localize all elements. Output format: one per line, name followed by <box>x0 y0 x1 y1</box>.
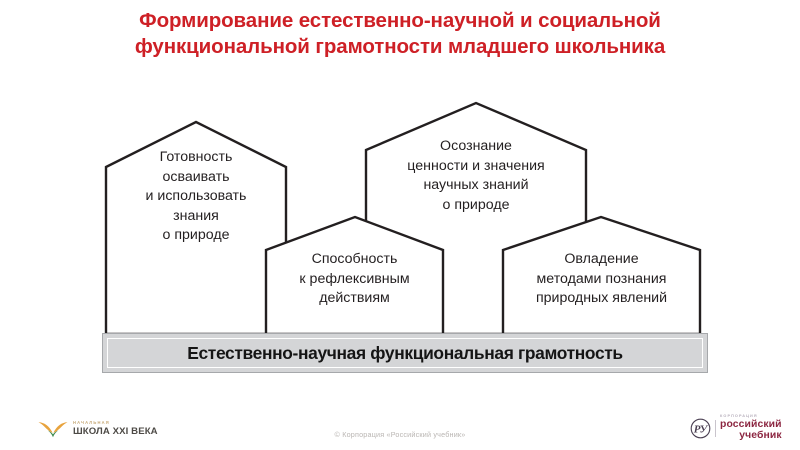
logo-nachalnaya-shkola: НАЧАЛЬНАЯ ШКОЛА XXI ВЕКА <box>38 417 158 441</box>
house-diagram: Готовность осваивать и использовать знан… <box>0 0 800 400</box>
logo-right-superscript: КОРПОРАЦИЯ <box>720 415 782 419</box>
foundation-bar: Естественно-научная функциональная грамо… <box>102 333 708 373</box>
house-label-reflexive-line-2: к рефлексивным <box>266 270 443 290</box>
logo-left-name: ШКОЛА XXI ВЕКА <box>73 427 158 437</box>
leaf-icon <box>38 421 68 438</box>
monogram-ru-icon: РУ <box>690 418 711 439</box>
house-label-readiness-line-1: Готовность <box>106 148 286 168</box>
logo-left-superscript: НАЧАЛЬНАЯ <box>73 421 158 425</box>
house-label-awareness-line-1: Осознание <box>366 137 586 157</box>
house-label-readiness-line-4: знания <box>106 207 286 227</box>
house-label-reflexive-line-1: Способность <box>266 250 443 270</box>
house-label-reflexive-line-3: действиям <box>266 289 443 309</box>
svg-text:РУ: РУ <box>694 423 709 435</box>
house-label-readiness-line-2: осваивать <box>106 168 286 188</box>
house-label-awareness-line-2: ценности и значения <box>366 157 586 177</box>
house-label-reflexive: Способность к рефлексивным действиям <box>266 250 443 309</box>
logo-rossiyskiy-uchebnik: РУ КОРПОРАЦИЯ российский учебник <box>690 414 782 442</box>
foundation-label: Естественно-научная функциональная грамо… <box>187 343 623 364</box>
logo-right-name-line-2: учебник <box>720 431 782 441</box>
house-label-readiness: Готовность осваивать и использовать знан… <box>106 148 286 246</box>
slide-canvas: Формирование естественно-научной и социа… <box>0 0 800 450</box>
house-label-awareness-line-4: о природе <box>366 196 586 216</box>
house-label-methods-line-1: Овладение <box>503 250 700 270</box>
logo-right-text: КОРПОРАЦИЯ российский учебник <box>720 415 782 441</box>
house-label-readiness-line-5: о природе <box>106 226 286 246</box>
house-label-awareness-line-3: научных знаний <box>366 176 586 196</box>
house-label-methods-line-3: природных явлений <box>503 289 700 309</box>
house-label-methods-line-2: методами познания <box>503 270 700 290</box>
logo-divider <box>715 420 716 437</box>
logo-left-text: НАЧАЛЬНАЯ ШКОЛА XXI ВЕКА <box>73 421 158 436</box>
house-label-methods: Овладение методами познания природных яв… <box>503 250 700 309</box>
house-label-awareness: Осознание ценности и значения научных зн… <box>366 137 586 215</box>
house-label-readiness-line-3: и использовать <box>106 187 286 207</box>
